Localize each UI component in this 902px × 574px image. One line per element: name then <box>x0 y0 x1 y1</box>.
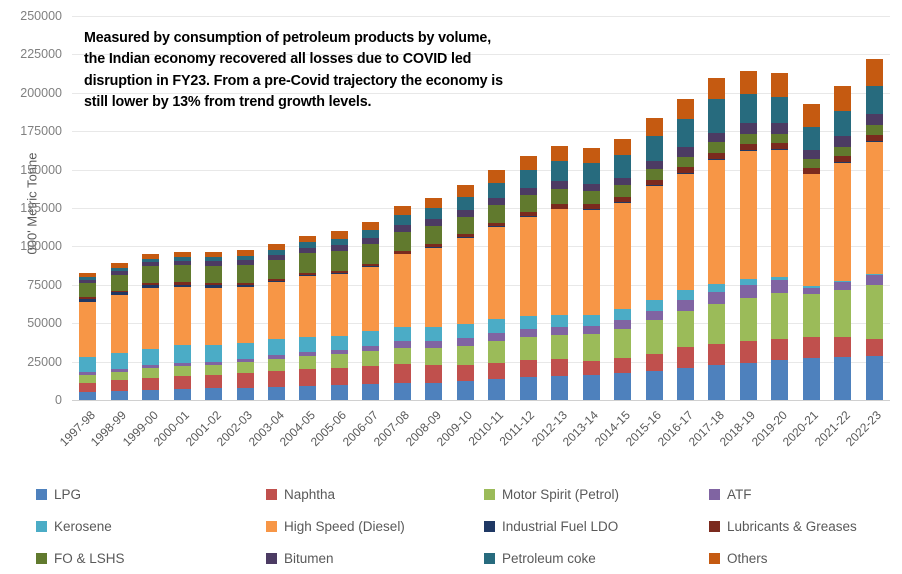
bar-segment <box>551 327 568 335</box>
bar-segment <box>331 368 348 386</box>
legend-item[interactable]: Industrial Fuel LDO <box>484 519 709 534</box>
stacked-bar[interactable] <box>771 73 788 400</box>
legend-swatch-icon <box>36 553 47 564</box>
bar-segment <box>205 375 222 388</box>
bar-segment <box>394 225 411 232</box>
bar-segment <box>646 186 663 301</box>
stacked-bar[interactable] <box>488 170 505 400</box>
bar-segment <box>834 136 851 146</box>
bar-segment <box>803 294 820 337</box>
bar-segment <box>520 377 537 400</box>
bar-segment <box>583 184 600 192</box>
bar-segment <box>771 73 788 98</box>
bar-segment <box>708 284 725 292</box>
bar-segment <box>268 282 285 339</box>
bar-segment <box>646 320 663 353</box>
legend-swatch-icon <box>266 489 277 500</box>
legend-swatch-icon <box>484 521 495 532</box>
bar-segment <box>614 329 631 358</box>
bar-segment <box>551 146 568 161</box>
bar-segment <box>268 359 285 371</box>
annotation-line: the Indian economy recovered all losses … <box>84 49 604 70</box>
bar-segment <box>174 366 191 376</box>
bar-segment <box>488 170 505 183</box>
bar-segment <box>457 338 474 345</box>
bar-segment <box>457 365 474 381</box>
bar-segment <box>425 198 442 208</box>
bar-segment <box>299 386 316 400</box>
y-axis-tick-label: 175000 <box>0 124 62 138</box>
y-axis-tick-label: 100000 <box>0 239 62 253</box>
bar-segment <box>205 388 222 400</box>
stacked-bar[interactable] <box>142 254 159 400</box>
bar-segment <box>803 150 820 160</box>
bar-segment <box>520 170 537 188</box>
stacked-bar[interactable] <box>646 118 663 400</box>
stacked-bar[interactable] <box>268 244 285 400</box>
bar-segment <box>394 206 411 215</box>
bar-segment <box>174 265 191 282</box>
bar-segment <box>425 219 442 226</box>
legend-swatch-icon <box>484 553 495 564</box>
bar-segment <box>614 373 631 400</box>
bar-segment <box>488 333 505 341</box>
bar-segment <box>520 156 537 170</box>
bar-segment <box>488 183 505 198</box>
bar-segment <box>740 134 757 144</box>
bar-segment <box>111 275 128 291</box>
bar-segment <box>268 339 285 355</box>
bar-segment <box>583 326 600 334</box>
bar-segment <box>362 331 379 346</box>
bar-segment <box>646 118 663 136</box>
bar-segment <box>299 356 316 369</box>
stacked-bar[interactable] <box>457 185 474 400</box>
bar-segment <box>740 151 757 279</box>
stacked-bar[interactable] <box>551 146 568 400</box>
bar-segment <box>237 343 254 359</box>
bar-segment <box>866 275 883 286</box>
stacked-bar[interactable] <box>520 156 537 400</box>
bar-segment <box>520 217 537 317</box>
y-axis-tick-label: 125000 <box>0 201 62 215</box>
bar-segment <box>111 372 128 380</box>
bar-segment <box>299 276 316 337</box>
bar-segment <box>299 253 316 273</box>
bar-segment <box>142 266 159 283</box>
bar-segment <box>583 148 600 163</box>
bar-segment <box>771 280 788 292</box>
bar-segment <box>834 282 851 290</box>
bar-segment <box>677 147 694 157</box>
legend-label: Kerosene <box>54 519 112 534</box>
legend-swatch-icon <box>709 521 720 532</box>
bar-segment <box>268 260 285 279</box>
legend-label: Bitumen <box>284 551 334 566</box>
bar-segment <box>331 385 348 400</box>
bar-segment <box>646 161 663 170</box>
bar-segment <box>488 319 505 333</box>
bar-segment <box>583 163 600 183</box>
bar-segment <box>614 185 631 196</box>
bar-segment <box>268 387 285 400</box>
bar-segment <box>677 347 694 367</box>
bar-segment <box>394 383 411 400</box>
bar-segment <box>834 337 851 357</box>
bar-segment <box>457 185 474 197</box>
legend-item[interactable]: Others <box>709 551 899 566</box>
bar-segment <box>331 251 348 271</box>
bar-segment <box>362 222 379 230</box>
legend-item[interactable]: Kerosene <box>36 519 266 534</box>
bar-segment <box>803 104 820 127</box>
bar-segment <box>771 134 788 144</box>
bar-segment <box>520 195 537 211</box>
bar-segment <box>488 379 505 400</box>
bar-segment <box>457 210 474 217</box>
bar-segment <box>614 178 631 186</box>
bar-segment <box>520 360 537 377</box>
bar-segment <box>394 327 411 341</box>
bar-segment <box>457 217 474 234</box>
bar-segment <box>79 357 96 372</box>
bar-segment <box>111 391 128 400</box>
stacked-bar[interactable] <box>740 71 757 400</box>
bar-segment <box>362 366 379 385</box>
legend-swatch-icon <box>484 489 495 500</box>
stacked-bar[interactable] <box>174 252 191 400</box>
bar-segment <box>834 86 851 112</box>
bar-segment <box>520 329 537 337</box>
bar-segment <box>79 375 96 383</box>
bar-segment <box>803 159 820 168</box>
bar-segment <box>866 339 883 356</box>
bar-segment <box>488 341 505 363</box>
bar-segment <box>583 361 600 375</box>
bar-segment <box>425 341 442 348</box>
legend-label: Industrial Fuel LDO <box>502 519 618 534</box>
bar-segment <box>551 161 568 180</box>
bar-segment <box>677 99 694 119</box>
stacked-bar[interactable] <box>708 78 725 400</box>
legend-label: High Speed (Diesel) <box>284 519 405 534</box>
bar-segment <box>677 174 694 291</box>
bar-segment <box>205 345 222 362</box>
bar-segment <box>740 123 757 134</box>
bar-segment <box>771 360 788 400</box>
chart-annotation-text: Measured by consumption of petroleum pro… <box>84 28 604 114</box>
stacked-bar[interactable] <box>425 198 442 400</box>
bar-segment <box>614 139 631 155</box>
bar-segment <box>520 316 537 329</box>
bar-segment <box>79 392 96 400</box>
bar-segment <box>866 59 883 86</box>
bar-segment <box>425 248 442 327</box>
bar-segment <box>677 300 694 311</box>
bar-segment <box>740 341 757 363</box>
bar-segment <box>583 191 600 204</box>
bar-segment <box>111 295 128 353</box>
bar-segment <box>677 368 694 400</box>
legend-item[interactable]: LPG <box>36 487 266 502</box>
bar-segment <box>457 381 474 400</box>
stacked-bar[interactable] <box>299 236 316 400</box>
bar-segment <box>488 363 505 380</box>
stacked-bar[interactable] <box>803 104 820 400</box>
bar-segment <box>803 358 820 400</box>
legend-label: Lubricants & Greases <box>727 519 857 534</box>
bar-segment <box>362 230 379 238</box>
bar-segment <box>425 327 442 341</box>
bar-segment <box>174 287 191 345</box>
y-axis-tick-label: 150000 <box>0 163 62 177</box>
bar-segment <box>425 348 442 365</box>
legend-label: ATF <box>727 487 752 502</box>
bar-segment <box>425 208 442 219</box>
bar-segment <box>834 290 851 337</box>
bar-segment <box>111 353 128 369</box>
annotation-line: disruption in FY23. From a pre-Covid tra… <box>84 71 604 92</box>
bar-segment <box>803 127 820 150</box>
bar-segment <box>866 125 883 135</box>
bar-segment <box>740 363 757 400</box>
bar-segment <box>425 365 442 382</box>
bar-segment <box>174 389 191 400</box>
y-axis-tick-label: 0 <box>0 393 62 407</box>
bar-segment <box>268 371 285 387</box>
bar-segment <box>551 209 568 315</box>
bar-segment <box>866 285 883 339</box>
bar-segment <box>488 198 505 206</box>
axis-baseline <box>72 400 890 401</box>
bar-segment <box>803 174 820 286</box>
stacked-bar[interactable] <box>866 59 883 400</box>
y-axis-tick-label: 250000 <box>0 9 62 23</box>
stacked-bar[interactable] <box>362 222 379 400</box>
bar-segment <box>394 364 411 384</box>
bar-segment <box>205 365 222 376</box>
bar-segment <box>142 349 159 366</box>
bar-segment <box>551 189 568 204</box>
bar-segment <box>708 133 725 143</box>
legend-item[interactable]: ATF <box>709 487 899 502</box>
legend-item[interactable]: Naphtha <box>266 487 484 502</box>
bar-segment <box>834 163 851 281</box>
bar-segment <box>551 359 568 376</box>
bar-segment <box>142 378 159 391</box>
bar-segment <box>866 86 883 114</box>
bar-segment <box>174 345 191 362</box>
legend-label: LPG <box>54 487 81 502</box>
bar-segment <box>331 354 348 367</box>
legend-swatch-icon <box>36 521 47 532</box>
bar-segment <box>394 348 411 364</box>
bar-segment <box>866 356 883 400</box>
bar-segment <box>299 337 316 352</box>
bar-segment <box>111 380 128 391</box>
stacked-bar[interactable] <box>111 263 128 400</box>
bar-segment <box>614 155 631 177</box>
y-axis-tick-label: 200000 <box>0 86 62 100</box>
legend-item[interactable]: Lubricants & Greases <box>709 519 899 534</box>
bar-segment <box>237 362 254 373</box>
bar-segment <box>79 302 96 357</box>
stacked-bar[interactable] <box>331 231 348 400</box>
bar-segment <box>457 238 474 324</box>
bar-segment <box>425 383 442 401</box>
bar-segment <box>551 181 568 189</box>
legend-item[interactable]: Bitumen <box>266 551 484 566</box>
bar-segment <box>394 254 411 326</box>
bar-segment <box>708 344 725 365</box>
bar-segment <box>362 384 379 400</box>
bar-segment <box>583 210 600 315</box>
bar-segment <box>331 336 348 351</box>
y-axis-tick-label: 50000 <box>0 316 62 330</box>
legend-item[interactable]: High Speed (Diesel) <box>266 519 484 534</box>
stacked-bar[interactable] <box>583 148 600 400</box>
bar-segment <box>457 346 474 366</box>
bar-segment <box>771 97 788 123</box>
bar-segment <box>677 119 694 147</box>
bar-segment <box>237 287 254 343</box>
bar-segment <box>646 136 663 160</box>
bar-segment <box>677 157 694 167</box>
bar-segment <box>362 267 379 332</box>
bar-segment <box>646 311 663 321</box>
bar-segment <box>740 71 757 94</box>
bar-segment <box>174 376 191 389</box>
bar-segment <box>614 309 631 320</box>
bar-segment <box>646 354 663 371</box>
legend-label: Naphtha <box>284 487 335 502</box>
legend-swatch-icon <box>709 489 720 500</box>
bar-segment <box>740 285 757 298</box>
annotation-line: still lower by 13% from trend growth lev… <box>84 92 604 113</box>
bar-segment <box>394 232 411 252</box>
bar-segment <box>614 203 631 310</box>
bar-segment <box>142 390 159 400</box>
bar-segment <box>771 150 788 277</box>
bar-segment <box>488 227 505 319</box>
bar-segment <box>457 324 474 338</box>
bar-segment <box>583 315 600 326</box>
legend-item[interactable]: Motor Spirit (Petrol) <box>484 487 709 502</box>
bar-segment <box>142 368 159 377</box>
bar-segment <box>488 205 505 222</box>
bar-segment <box>866 114 883 125</box>
bar-segment <box>708 142 725 153</box>
bar-segment <box>708 78 725 100</box>
bar-segment <box>394 341 411 348</box>
bar-segment <box>205 266 222 284</box>
bar-segment <box>834 111 851 136</box>
bar-segment <box>142 288 159 349</box>
bar-segment <box>237 265 254 283</box>
bar-segment <box>708 292 725 304</box>
bar-segment <box>771 293 788 339</box>
bar-segment <box>237 373 254 387</box>
bar-segment <box>520 188 537 196</box>
bar-segment <box>331 231 348 238</box>
bar-segment <box>425 226 442 244</box>
bar-segment <box>205 288 222 345</box>
legend-label: Petroleum coke <box>502 551 596 566</box>
legend-swatch-icon <box>266 553 277 564</box>
bar-segment <box>362 244 379 264</box>
bar-segment <box>708 304 725 344</box>
bar-segment <box>331 274 348 336</box>
stacked-bar[interactable] <box>614 139 631 400</box>
annotation-line: Measured by consumption of petroleum pro… <box>84 28 604 49</box>
bar-segment <box>708 160 725 284</box>
stacked-bar[interactable] <box>237 250 254 400</box>
bar-segment <box>740 298 757 341</box>
bar-segment <box>520 337 537 360</box>
bar-segment <box>834 147 851 157</box>
bar-segment <box>677 311 694 348</box>
bar-segment <box>646 169 663 179</box>
stacked-bar[interactable] <box>677 99 694 400</box>
stacked-bar[interactable] <box>79 273 96 400</box>
bar-segment <box>331 239 348 246</box>
bar-segment <box>708 99 725 132</box>
legend-item[interactable]: Petroleum coke <box>484 551 709 566</box>
bar-segment <box>740 94 757 123</box>
legend-swatch-icon <box>709 553 720 564</box>
stacked-bar[interactable] <box>205 252 222 400</box>
bar-segment <box>394 215 411 225</box>
bar-segment <box>299 369 316 386</box>
legend-swatch-icon <box>266 521 277 532</box>
bar-segment <box>551 335 568 359</box>
bar-segment <box>677 290 694 300</box>
bar-segment <box>583 334 600 360</box>
bar-segment <box>551 315 568 326</box>
bar-segment <box>551 376 568 400</box>
chart-legend: LPGNaphthaMotor Spirit (Petrol)ATFKerose… <box>36 478 886 574</box>
legend-label: Others <box>727 551 768 566</box>
y-axis-tick-label: 25000 <box>0 355 62 369</box>
legend-item[interactable]: FO & LSHS <box>36 551 266 566</box>
bar-segment <box>457 197 474 210</box>
bar-segment <box>583 375 600 400</box>
chart-root: 000' Metric Tonne 0250005000075000100000… <box>0 0 902 568</box>
bar-segment <box>614 358 631 373</box>
bar-segment <box>79 383 96 393</box>
y-axis-tick-label: 75000 <box>0 278 62 292</box>
bar-segment <box>803 337 820 358</box>
legend-swatch-icon <box>36 489 47 500</box>
bar-segment <box>237 388 254 400</box>
bar-segment <box>79 283 96 297</box>
bar-segment <box>771 339 788 361</box>
bar-segment <box>646 371 663 400</box>
bar-segment <box>708 365 725 400</box>
bar-segment <box>646 300 663 310</box>
bar-segment <box>866 142 883 274</box>
bar-segment <box>362 351 379 365</box>
bar-segment <box>771 123 788 133</box>
bar-segment <box>299 236 316 243</box>
bar-segment <box>614 320 631 329</box>
legend-label: FO & LSHS <box>54 551 125 566</box>
x-axis-tick-labels: 1997-981998-991999-002000-012001-022002-… <box>72 402 890 472</box>
stacked-bar[interactable] <box>394 206 411 400</box>
stacked-bar[interactable] <box>834 86 851 400</box>
bar-segment <box>834 357 851 400</box>
legend-label: Motor Spirit (Petrol) <box>502 487 619 502</box>
